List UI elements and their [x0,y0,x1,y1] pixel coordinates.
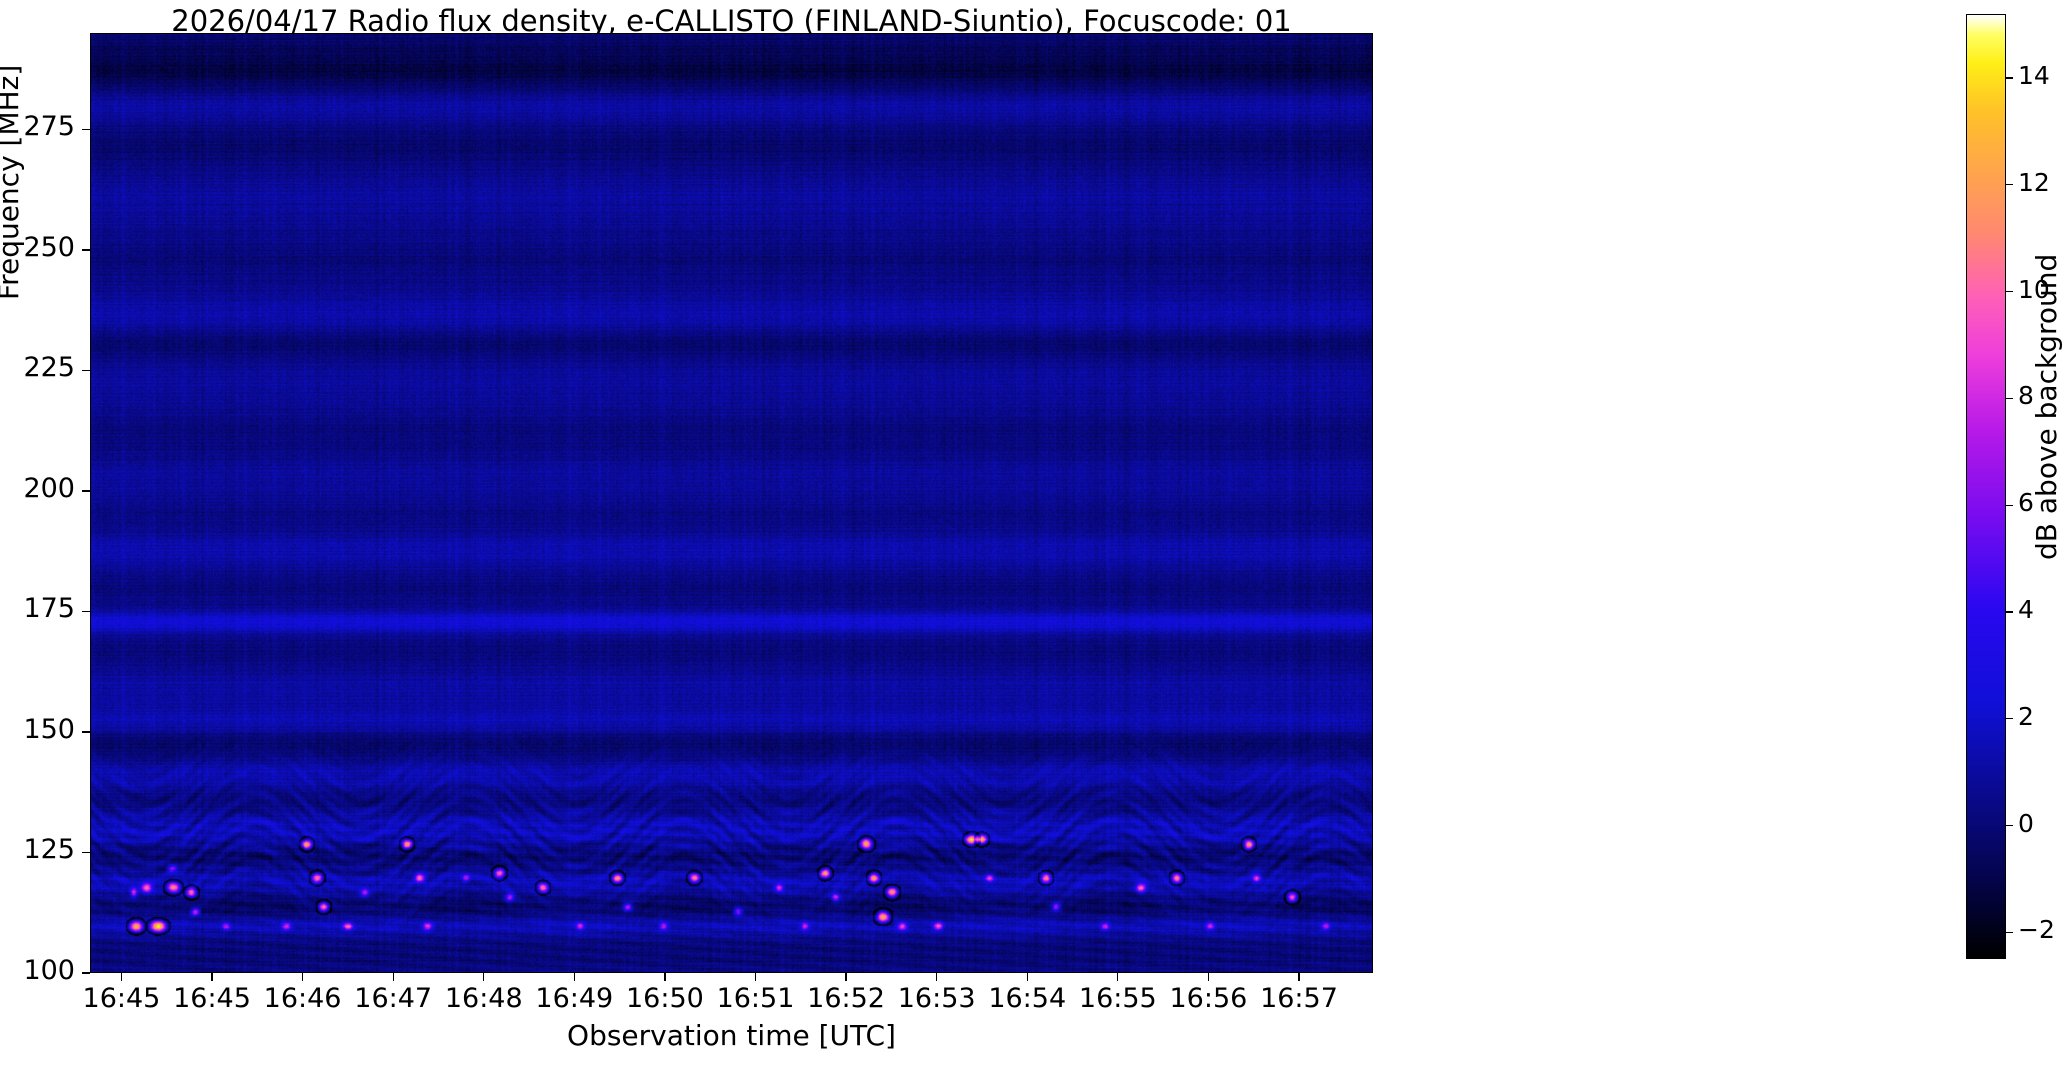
x-tick-mark [936,973,937,981]
colorbar-tick-mark [2006,611,2013,612]
x-axis-label: Observation time [UTC] [90,1019,1373,1052]
colorbar-tick-label: −2 [2018,915,2055,944]
colorbar-tick-label: 0 [2018,809,2034,838]
x-tick-label: 16:57 [1229,983,1369,1014]
spectrogram-image [91,34,1373,973]
colorbar-tick-label: 4 [2018,595,2034,624]
x-tick-mark [1027,973,1028,981]
colorbar-tick-label: 12 [2018,168,2050,197]
y-axis-label: Frequency [MHz] [0,65,25,300]
colorbar[interactable]: 14121086420−2 [1966,14,2006,959]
colorbar-tick-label: 2 [2018,702,2034,731]
colorbar-tick-mark [2006,718,2013,719]
x-tick-mark [755,973,756,981]
x-tick-mark [1208,973,1209,981]
y-tick-mark [82,611,90,612]
y-tick-label: 100 [0,955,75,986]
x-tick-mark [121,973,122,981]
x-tick-mark [1117,973,1118,981]
colorbar-tick-mark [2006,505,2013,506]
y-tick-mark [82,249,90,250]
y-tick-mark [82,852,90,853]
spectrogram-axes[interactable] [90,33,1373,973]
y-tick-mark [82,370,90,371]
colorbar-tick-mark [2006,77,2013,78]
colorbar-tick-mark [2006,184,2013,185]
y-tick-mark [82,972,90,973]
colorbar-tick-mark [2006,398,2013,399]
y-tick-mark [82,129,90,130]
y-tick-label: 225 [0,352,75,383]
colorbar-label: dB above background [2030,254,2063,560]
y-tick-mark [82,731,90,732]
x-tick-mark [483,973,484,981]
y-tick-label: 200 [0,473,75,504]
y-tick-label: 150 [0,714,75,745]
x-tick-mark [1298,973,1299,981]
x-tick-mark [574,973,575,981]
spectrogram-figure: 2026/04/17 Radio flux density, e-CALLIST… [0,0,2066,1067]
y-tick-label: 125 [0,834,75,865]
x-tick-mark [302,973,303,981]
x-tick-mark [393,973,394,981]
colorbar-gradient [1966,14,2006,959]
colorbar-tick-label: 14 [2018,61,2050,90]
x-tick-mark [664,973,665,981]
colorbar-tick-mark [2006,291,2013,292]
y-tick-label: 175 [0,593,75,624]
colorbar-tick-mark [2006,825,2013,826]
y-tick-mark [82,490,90,491]
colorbar-tick-mark [2006,932,2013,933]
x-tick-mark [845,973,846,981]
x-tick-mark [211,973,212,981]
